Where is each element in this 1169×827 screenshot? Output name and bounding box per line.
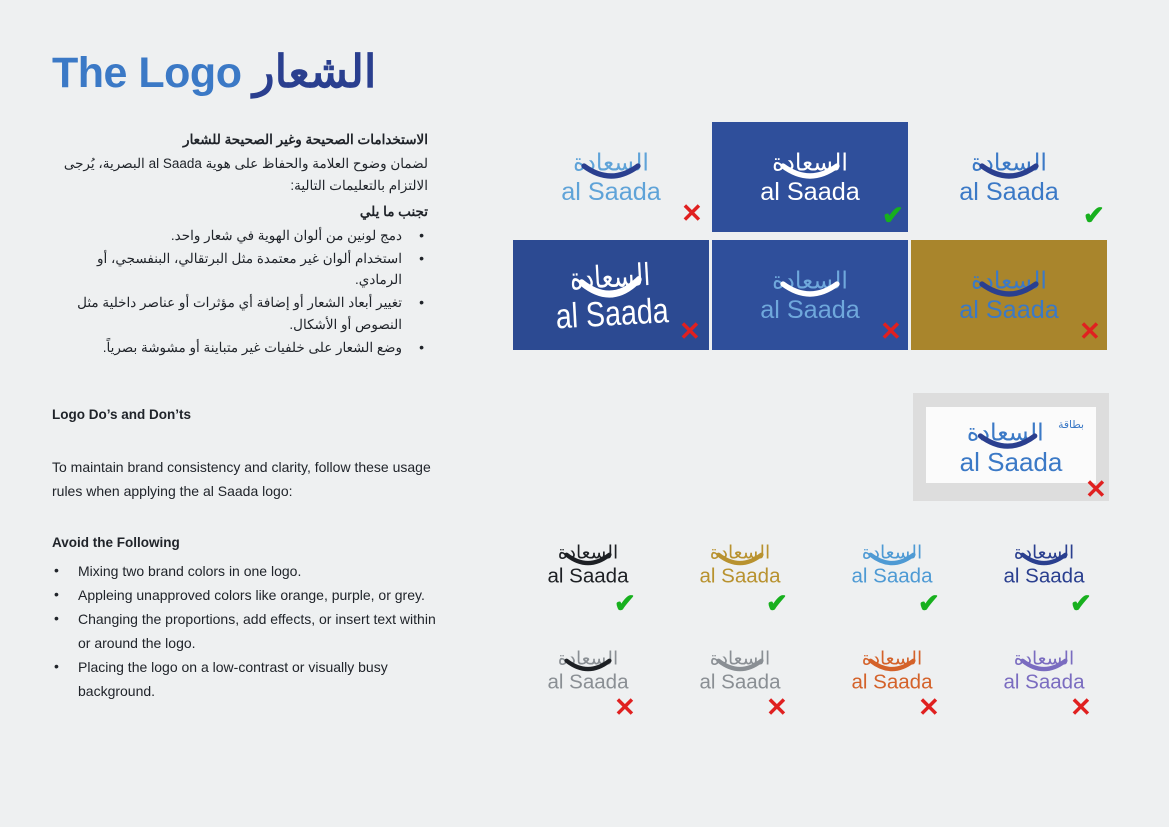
color-variant-black: السعادة al Saada ✔ <box>518 528 658 600</box>
svg-text:al Saada: al Saada <box>1004 565 1086 588</box>
svg-text:al Saada: al Saada <box>561 178 662 206</box>
al-saada-logo-with-added-text: السعادة بطاقة al Saada <box>926 407 1096 483</box>
svg-text:al Saada: al Saada <box>852 671 934 694</box>
al-saada-logo: السعادة al Saada <box>822 528 962 600</box>
list-item: Placing the logo on a low-contrast or vi… <box>52 655 442 703</box>
svg-text:al Saada: al Saada <box>959 178 1060 206</box>
usage-cell-primary-blue-on-light: السعادة al Saada ✔ <box>911 122 1107 232</box>
al-saada-logo: السعادة al Saada <box>523 134 699 218</box>
al-saada-logo: السعادة al Saada <box>518 528 658 600</box>
color-variant-grey-mixed: السعادة al Saada ✕ <box>518 634 658 706</box>
al-saada-logo: السعادة al Saada <box>670 528 810 600</box>
english-heading: Logo Do’s and Don’ts <box>52 405 442 425</box>
page-title: The Logo الشعار <box>52 48 432 96</box>
logo-lockup: السعادة al Saada <box>518 528 658 600</box>
svg-text:al Saada: al Saada <box>959 296 1060 324</box>
english-guidelines-block: Logo Do’s and Don’ts To maintain brand c… <box>52 405 442 703</box>
english-bullet-list: Mixing two brand colors in one logo. App… <box>52 559 442 703</box>
logo-lockup: السعادة al Saada <box>974 634 1114 706</box>
usage-cell-blue-on-gold: السعادة al Saada ✕ <box>911 240 1107 350</box>
list-item: Changing the proportions, add effects, o… <box>52 607 442 655</box>
al-saada-logo: السعادة al Saada <box>974 528 1114 600</box>
logo-lockup: السعادة al Saada <box>974 528 1114 600</box>
svg-text:al Saada: al Saada <box>700 671 782 694</box>
english-subheading: Avoid the Following <box>52 533 442 553</box>
list-item: تغيير أبعاد الشعار أو إضافة أي مؤثرات أو… <box>52 292 428 336</box>
svg-text:السعادة: السعادة <box>971 267 1047 295</box>
logo-lockup: السعادة al Saada <box>722 252 898 336</box>
svg-text:al Saada: al Saada <box>700 565 782 588</box>
al-saada-logo: السعادة al Saada <box>921 134 1097 218</box>
arabic-heading: الاستخدامات الصحيحة وغير الصحيحة للشعار <box>52 130 428 150</box>
color-variant-gold: السعادة al Saada ✔ <box>670 528 810 600</box>
svg-text:السعادة: السعادة <box>967 418 1044 446</box>
color-variant-purple: السعادة al Saada ✕ <box>974 634 1114 706</box>
al-saada-logo: السعادة al Saada <box>722 134 898 218</box>
logo-lockup: السعادة al Saada <box>516 247 707 341</box>
svg-text:al Saada: al Saada <box>555 290 670 336</box>
usage-cell-flat-light-blue-no-contrast: السعادة al Saada ✕ <box>513 122 709 232</box>
svg-text:al Saada: al Saada <box>960 447 1063 477</box>
brand-guidelines-page: The Logo الشعار الاستخدامات الصحيحة وغير… <box>0 0 1169 827</box>
card-example-panel: السعادة بطاقة al Saada ✕ <box>913 393 1109 501</box>
list-item: وضع الشعار على خلفيات غير متباينة أو مشو… <box>52 337 428 359</box>
logo-color-variants-grid: السعادة al Saada ✔ السعادة al Saada ✔ ال <box>518 528 1118 740</box>
color-variant-orange: السعادة al Saada ✕ <box>822 634 962 706</box>
usage-cell-white-on-navy: السعادة al Saada ✔ <box>712 122 908 232</box>
color-variant-grey: السعادة al Saada ✕ <box>670 634 810 706</box>
svg-text:al Saada: al Saada <box>760 178 861 206</box>
color-variant-light-blue: السعادة al Saada ✔ <box>822 528 962 600</box>
page-title-english: The Logo <box>52 49 241 97</box>
svg-text:السعادة: السعادة <box>971 149 1047 177</box>
english-intro: To maintain brand consistency and clarit… <box>52 455 442 503</box>
list-item: Appleing unapproved colors like orange, … <box>52 583 442 607</box>
al-saada-logo: السعادة al Saada <box>921 252 1097 336</box>
svg-text:al Saada: al Saada <box>548 565 630 588</box>
al-saada-logo: السعادة al Saada <box>516 247 707 341</box>
svg-text:al Saada: al Saada <box>1004 671 1086 694</box>
arabic-guidelines-block: الاستخدامات الصحيحة وغير الصحيحة للشعار … <box>52 130 428 359</box>
list-item: Mixing two brand colors in one logo. <box>52 559 442 583</box>
logo-lockup: السعادة al Saada <box>921 134 1097 218</box>
list-item: استخدام ألوان غير معتمدة مثل البرتقالي، … <box>52 248 428 292</box>
logo-usage-grid: السعادة al Saada ✕ السعادة al Saada ✔ ال <box>513 122 1113 358</box>
logo-lockup: السعادة al Saada <box>822 634 962 706</box>
logo-lockup: السعادة al Saada <box>722 134 898 218</box>
al-saada-logo: السعادة al Saada <box>722 252 898 336</box>
list-item: دمج لونين من ألوان الهوية في شعار واحد. <box>52 225 428 247</box>
added-text-label: بطاقة <box>1058 418 1084 431</box>
logo-lockup: السعادة al Saada <box>822 528 962 600</box>
svg-text:al Saada: al Saada <box>548 671 630 694</box>
logo-lockup: السعادة al Saada <box>921 252 1097 336</box>
usage-cell-distorted-proportions: السعادة al Saada ✕ <box>513 240 709 350</box>
svg-text:السعادة: السعادة <box>772 149 848 177</box>
al-saada-logo: السعادة al Saada <box>822 634 962 706</box>
svg-text:al Saada: al Saada <box>760 296 861 324</box>
card-logo-area: السعادة بطاقة al Saada <box>926 407 1096 483</box>
arabic-intro: لضمان وضوح العلامة والحفاظ على هوية al S… <box>52 153 428 197</box>
logo-lockup: السعادة al Saada <box>518 634 658 706</box>
logo-lockup: السعادة al Saada <box>523 134 699 218</box>
usage-cell-low-contrast-blue-on-blue: السعادة al Saada ✕ <box>712 240 908 350</box>
page-title-arabic: الشعار <box>253 46 377 97</box>
svg-text:السعادة: السعادة <box>772 267 848 295</box>
logo-lockup: السعادة al Saada <box>670 634 810 706</box>
color-variant-navy: السعادة al Saada ✔ <box>974 528 1114 600</box>
al-saada-logo: السعادة al Saada <box>518 634 658 706</box>
arabic-subheading: تجنب ما يلي <box>52 201 428 223</box>
svg-text:al Saada: al Saada <box>852 565 934 588</box>
al-saada-logo: السعادة al Saada <box>670 634 810 706</box>
al-saada-logo: السعادة al Saada <box>974 634 1114 706</box>
logo-lockup: السعادة al Saada <box>670 528 810 600</box>
arabic-bullet-list: دمج لونين من ألوان الهوية في شعار واحد. … <box>52 225 428 359</box>
svg-text:السعادة: السعادة <box>573 149 649 177</box>
left-text-column: The Logo الشعار الاستخدامات الصحيحة وغير… <box>52 48 432 703</box>
